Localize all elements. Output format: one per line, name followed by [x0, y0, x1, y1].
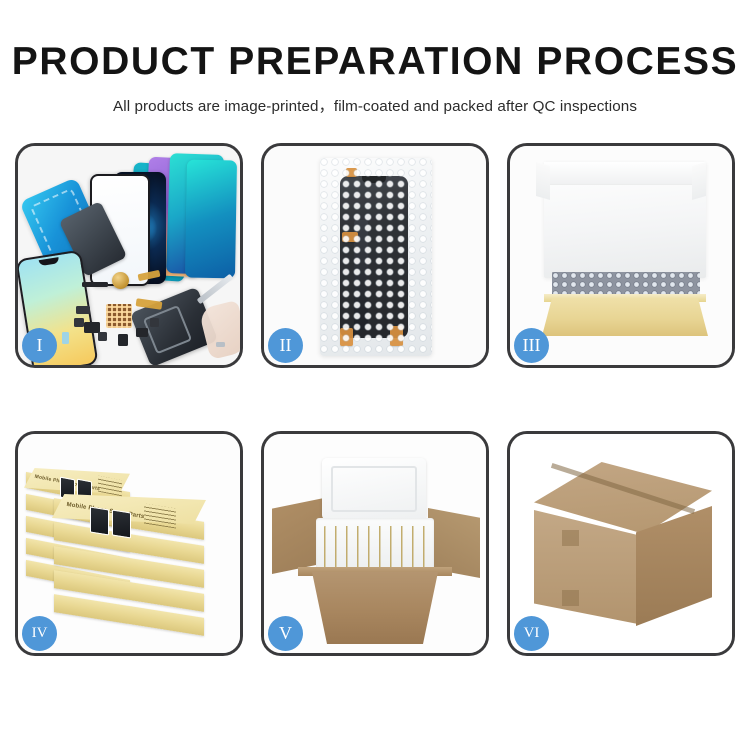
box-label-window-f2 [112, 509, 131, 538]
header: PRODUCT PREPARATION PROCESS All products… [0, 0, 750, 116]
clip-part-image [216, 342, 225, 347]
carton-handle-tab-top-image [562, 530, 579, 546]
process-steps-grid: I II [15, 143, 735, 683]
packed-yellow-boxes-image [324, 526, 426, 568]
wrapped-screen-image [340, 176, 408, 338]
tape-piece-top-image [346, 168, 357, 177]
wrapped-flex-cable-image [354, 220, 368, 330]
screw-set-4-image [150, 318, 159, 327]
tweezers-icon [197, 274, 234, 305]
step-badge-2: II [268, 328, 303, 363]
box-stack-image: Mobile Phone Spare Parts Mobile Phone Sp… [24, 456, 236, 642]
tape-piece-bottom-left-image [340, 328, 353, 346]
step-badge-6: VI [514, 616, 549, 651]
tape-piece-bottom-right-image [390, 326, 403, 346]
tape-piece-mid-image [342, 232, 358, 242]
step-badge-4: IV [22, 616, 57, 651]
step-card-4[interactable]: Mobile Phone Spare Parts Mobile Phone Sp… [15, 431, 243, 656]
speaker-part-image [82, 282, 108, 287]
page-subtitle: All products are image-printed，film-coat… [0, 94, 750, 116]
screw-set-2-image [74, 318, 84, 327]
step-card-2[interactable]: II [261, 143, 489, 368]
small-part-image [62, 332, 69, 344]
step-badge-3: III [514, 328, 549, 363]
carton-front-image [300, 572, 450, 644]
flex-cable-2-image [136, 298, 163, 310]
bubble-bag-image [320, 158, 432, 356]
button-part-image [136, 328, 148, 337]
step-card-6[interactable]: VI [507, 431, 735, 656]
box-lid-flap-right-image [692, 162, 706, 200]
step-card-3[interactable]: III [507, 143, 735, 368]
page-title: PRODUCT PREPARATION PROCESS [0, 42, 750, 81]
box-lid-image [544, 162, 706, 278]
screw-set-3-image [98, 332, 107, 341]
vibration-motor-icon [112, 272, 129, 289]
box-lid-flap-left-image [536, 162, 550, 200]
product-preparation-page: PRODUCT PREPARATION PROCESS All products… [0, 0, 750, 750]
box-label-window-f1 [90, 506, 109, 535]
step-badge-5: V [268, 616, 303, 651]
screw-set-1-image [76, 306, 90, 314]
step-card-1[interactable]: I [15, 143, 243, 368]
kraft-box-front-image [542, 298, 708, 336]
foam-lid-image [322, 458, 426, 520]
carton-handle-tab-bottom-image [562, 590, 579, 606]
connector-part-image [118, 334, 128, 346]
step-badge-1: I [22, 328, 57, 363]
step-card-5[interactable]: V [261, 431, 489, 656]
phone-back-blue-image [185, 160, 237, 279]
logic-board-image [106, 304, 132, 328]
